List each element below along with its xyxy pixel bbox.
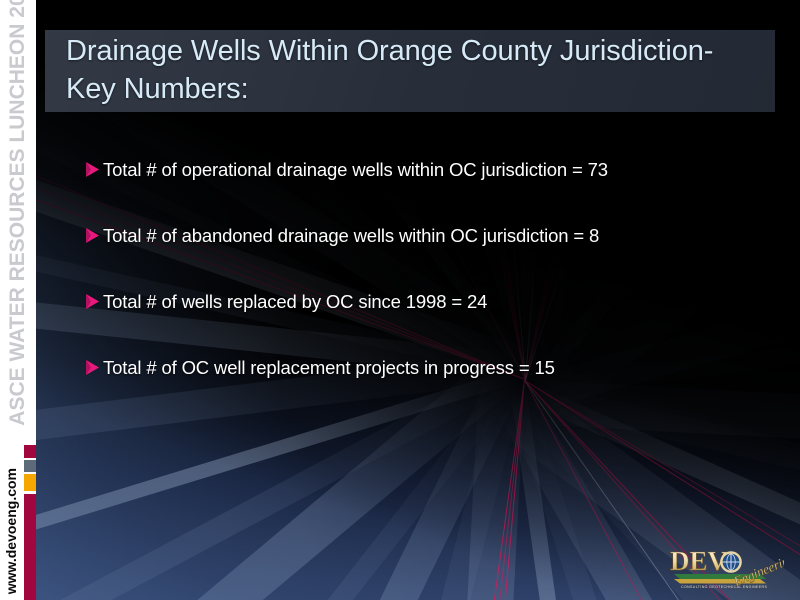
page-title-line-2: Key Numbers: [66, 70, 786, 108]
list-item: Total # of OC well replacement projects … [84, 356, 744, 382]
arrowhead-bullet-icon [84, 159, 102, 181]
list-item-label: Total # of wells replaced by OC since 19… [103, 290, 487, 313]
accent-bar-crimson-top [24, 445, 36, 458]
bullet-list: Total # of operational drainage wells wi… [84, 158, 744, 422]
list-item: Total # of operational drainage wells wi… [84, 158, 744, 184]
arrowhead-bullet-icon [84, 225, 102, 247]
slide-canvas: Drainage Wells Within Orange County Juri… [0, 0, 800, 600]
website-label[interactable]: www.devoeng.com [3, 468, 19, 594]
logo-wordmark-text: DEV [670, 546, 728, 576]
logo-tagline-text: CONSULTING GEOTECHNICAL ENGINEERS [681, 585, 767, 589]
accent-bar-crimson-bottom [24, 494, 36, 600]
list-item-label: Total # of OC well replacement projects … [103, 356, 555, 379]
left-sidebar: ASCE WATER RESOURCES LUNCHEON 2010 www.d… [0, 0, 36, 600]
accent-bar-amber [24, 474, 36, 491]
accent-bar-slate [24, 460, 36, 472]
list-item-label: Total # of operational drainage wells wi… [103, 158, 608, 181]
arrowhead-bullet-icon [84, 357, 102, 379]
website-label-container[interactable]: www.devoeng.com [0, 430, 22, 600]
event-label: ASCE WATER RESOURCES LUNCHEON 2010 [6, 0, 30, 426]
page-title: Drainage Wells Within Orange County Juri… [66, 32, 786, 108]
event-label-container: ASCE WATER RESOURCES LUNCHEON 2010 [0, 0, 36, 430]
arrowhead-bullet-icon [84, 291, 102, 313]
devo-engineering-logo: DEV CONSULTING GEOTECHNICAL ENGINEERS En… [668, 540, 784, 592]
list-item-label: Total # of abandoned drainage wells with… [103, 224, 599, 247]
page-title-line-1: Drainage Wells Within Orange County Juri… [66, 32, 786, 70]
list-item: Total # of wells replaced by OC since 19… [84, 290, 744, 316]
list-item: Total # of abandoned drainage wells with… [84, 224, 744, 250]
